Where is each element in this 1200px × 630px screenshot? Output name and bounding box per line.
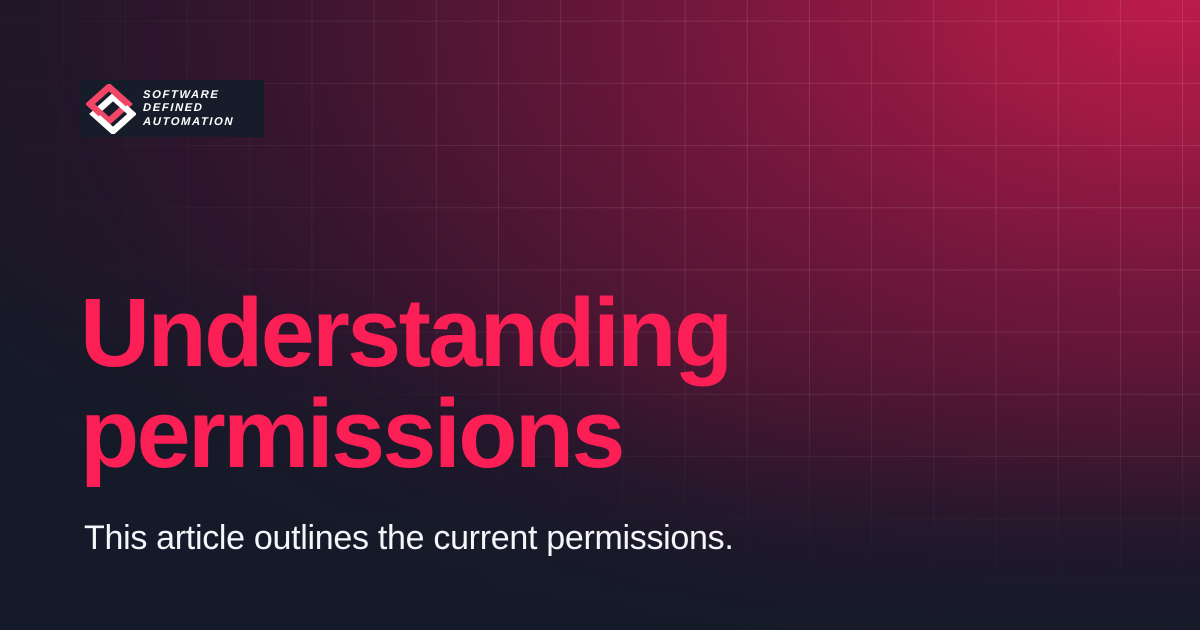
logo-wordmark-line-2: DEFINED [143, 102, 234, 115]
page-title: Understanding permissions [80, 282, 780, 484]
logo-wordmark: SOFTWARE DEFINED AUTOMATION [143, 89, 234, 129]
interlocking-diamonds-icon [86, 84, 136, 134]
logo-wordmark-line-1: SOFTWARE [143, 89, 234, 102]
logo-wordmark-line-3: AUTOMATION [143, 116, 234, 129]
og-card: SOFTWARE DEFINED AUTOMATION Understandin… [0, 0, 1200, 630]
page-subtitle: This article outlines the current permis… [84, 517, 944, 559]
hero-content: Understanding permissions This article o… [84, 282, 944, 559]
software-defined-automation-logo: SOFTWARE DEFINED AUTOMATION [80, 80, 264, 137]
